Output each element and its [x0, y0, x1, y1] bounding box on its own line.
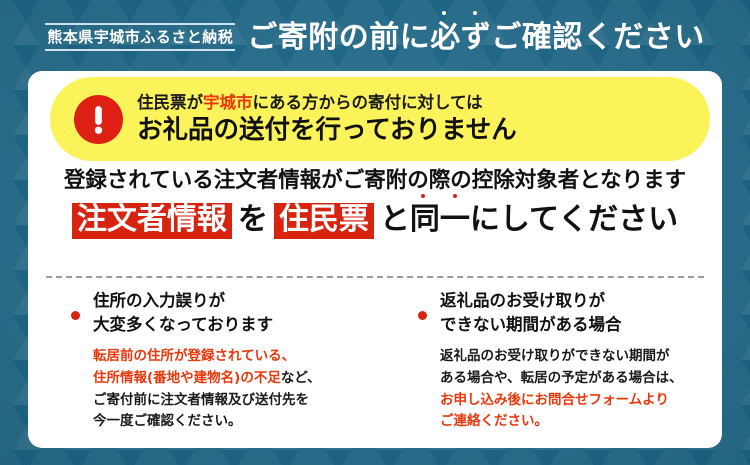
chip-residence-certificate: 住民票 — [274, 203, 374, 239]
chip-orderer-info: 注文者情報 — [72, 203, 232, 239]
note-body-text: ご寄付前に注文者情報及び送付先を — [93, 392, 309, 408]
note-body-line: 今一度ご確認ください。 — [93, 411, 365, 433]
note-column-delivery: 返礼品のお受け取りが できない期間がある場合 返礼品のお受け取りができない期間が… — [375, 289, 722, 433]
content-card: 住民票が宇城市にある方からの寄付に対しては お礼品の送付を行っておりません 登録… — [28, 71, 722, 448]
note-heading-line-1: 住所の入力誤りが — [93, 289, 365, 313]
statement-tail-suffix: にしてください — [470, 201, 678, 239]
notice-banner: 熊本県宇城市ふるさと納税 ご寄附の前に必ずご確認ください 住民票が宇城市にある方… — [0, 0, 750, 465]
exclamation-circle-icon — [74, 95, 123, 144]
note-body-text: ある場合や、転居の予定がある場合は、 — [440, 370, 683, 386]
alert-line-2: お礼品の送付を行っておりません — [137, 115, 517, 146]
note-body-suffix: など、 — [281, 370, 321, 386]
header-title-wrap: ご寄附の前に必ずご確認ください — [247, 17, 705, 54]
page-title: ご寄附の前に必ずご確認ください — [247, 21, 705, 54]
note-heading-line-1: 返礼品のお受け取りが — [440, 289, 712, 313]
section-divider — [46, 276, 704, 278]
note-body-line: 返礼品のお受け取りができない期間が — [440, 346, 712, 368]
note-body-line: 転居前の住所が登録されている、 — [93, 346, 365, 368]
note-body-line: ご連絡ください。 — [440, 411, 712, 433]
note-heading-line-2: 大変多くなっております — [93, 313, 365, 337]
alert-line1-highlight: 宇城市 — [203, 93, 253, 112]
main-statement: 登録されている注文者情報がご寄附の際の控除対象者となります 注文者情報を住民票と… — [28, 167, 722, 239]
header-title-emphasis: 必ず — [430, 20, 491, 55]
red-bullet-icon — [71, 311, 80, 320]
note-body-line: 住所情報(番地や建物名)の不足など、 — [93, 368, 365, 390]
banner-header: 熊本県宇城市ふるさと納税 ご寄附の前に必ずご確認ください — [0, 0, 750, 71]
note-body-text: ご連絡ください。 — [440, 413, 548, 429]
note-body-text: 今一度ご確認ください。 — [93, 413, 242, 429]
note-body-line: お申し込み後にお問合せフォームより — [440, 390, 712, 412]
note-body-line: ある場合や、転居の予定がある場合は、 — [440, 368, 712, 390]
brand-label: 熊本県宇城市ふるさと納税 — [45, 25, 235, 49]
note-body-text: 返礼品のお受け取りができない期間が — [440, 348, 670, 364]
alert-box: 住民票が宇城市にある方からの寄付に対しては お礼品の送付を行っておりません — [50, 77, 710, 161]
statement-tail-prefix: と — [374, 201, 410, 239]
alert-line1-suffix: にある方からの寄付に対しては — [253, 93, 483, 112]
header-title-part2: ご確認ください — [491, 20, 705, 55]
alert-line1-prefix: 住民票が — [137, 93, 203, 112]
header-title-part1: ご寄附の前に — [247, 20, 430, 55]
notes-columns: 住所の入力誤りが 大変多くなっております 転居前の住所が登録されている、 住所情… — [28, 289, 722, 433]
brand-block: 熊本県宇城市ふるさと納税 — [45, 21, 235, 51]
note-body-text: 転居前の住所が登録されている、 — [93, 348, 295, 364]
note-body-delivery: 返礼品のお受け取りができない期間が ある場合や、転居の予定がある場合は、 お申し… — [440, 346, 712, 433]
note-body-line: ご寄付前に注文者情報及び送付先を — [93, 390, 365, 412]
note-body-address: 転居前の住所が登録されている、 住所情報(番地や建物名)の不足など、 ご寄付前に… — [93, 346, 365, 433]
alert-line-1: 住民票が宇城市にある方からの寄付に対しては — [137, 93, 517, 114]
note-heading-line-2: できない期間がある場合 — [440, 313, 712, 337]
note-column-address: 住所の入力誤りが 大変多くなっております 転居前の住所が登録されている、 住所情… — [28, 289, 375, 433]
alert-text-block: 住民票が宇城市にある方からの寄付に対しては お礼品の送付を行っておりません — [137, 93, 517, 145]
brand-rule-bottom — [45, 49, 235, 51]
statement-line-2: 注文者情報を住民票と同一にしてください — [28, 201, 722, 239]
note-body-text: 住所情報(番地や建物名)の不足 — [93, 370, 281, 386]
statement-tail-emphasis: 同一 — [410, 201, 470, 239]
note-body-text: お申し込み後にお問合せフォームより — [440, 392, 669, 408]
statement-conjunction: を — [232, 201, 274, 239]
statement-line-1: 登録されている注文者情報がご寄附の際の控除対象者となります — [28, 167, 722, 195]
red-bullet-icon — [418, 311, 427, 320]
